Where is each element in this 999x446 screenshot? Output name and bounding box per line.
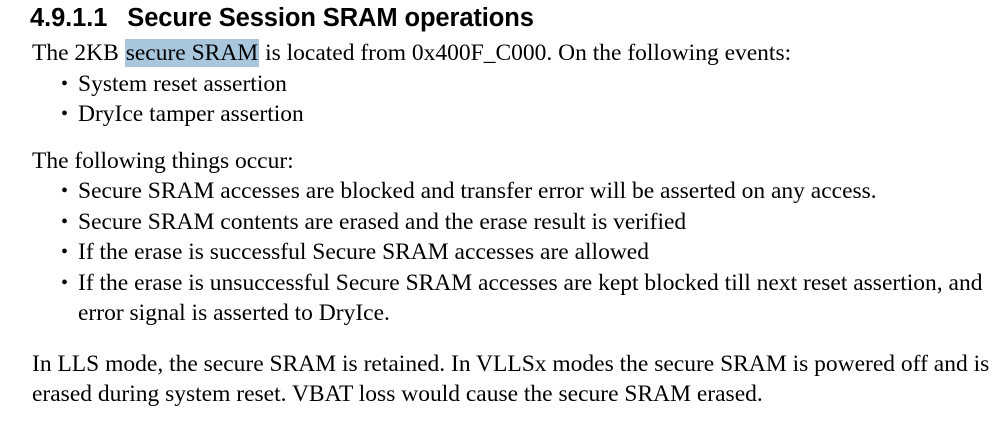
- intro-paragraph: The 2KB secure SRAM is located from 0x40…: [0, 33, 999, 69]
- section-title: Secure Session SRAM operations: [107, 3, 534, 33]
- list-item: If the erase is successful Secure SRAM a…: [0, 237, 999, 268]
- intro-text-after: is located from 0x400F_C000. On the foll…: [259, 40, 791, 66]
- list-item-text: If the erase is successful Secure SRAM a…: [78, 239, 649, 265]
- list-item-text: If the erase is unsuccessful Secure SRAM…: [78, 270, 982, 327]
- list-item: System reset assertion: [0, 69, 999, 100]
- occur-lead-paragraph: The following things occur:: [0, 146, 999, 177]
- list-item: If the erase is unsuccessful Secure SRAM…: [0, 268, 999, 329]
- list-item-text: Secure SRAM accesses are blocked and tra…: [78, 178, 877, 204]
- spacer: [0, 329, 999, 349]
- events-list: System reset assertion DryIce tamper ass…: [0, 69, 999, 130]
- occur-list: Secure SRAM accesses are blocked and tra…: [0, 176, 999, 329]
- section-number: 4.9.1.1: [30, 3, 107, 33]
- closing-paragraph: In LLS mode, the secure SRAM is retained…: [0, 349, 999, 410]
- list-item: Secure SRAM accesses are blocked and tra…: [0, 176, 999, 207]
- list-item: Secure SRAM contents are erased and the …: [0, 207, 999, 238]
- list-item-text: System reset assertion: [78, 71, 287, 97]
- spacer: [0, 130, 999, 146]
- highlighted-term: secure SRAM: [125, 39, 260, 67]
- intro-text-before: The 2KB: [32, 40, 125, 66]
- page-title: 4.9.1.1Secure Session SRAM operations: [0, 0, 999, 33]
- list-item-text: Secure SRAM contents are erased and the …: [78, 209, 686, 235]
- list-item: DryIce tamper assertion: [0, 99, 999, 130]
- list-item-text: DryIce tamper assertion: [78, 101, 304, 127]
- document-page: 4.9.1.1Secure Session SRAM operations Th…: [0, 0, 999, 446]
